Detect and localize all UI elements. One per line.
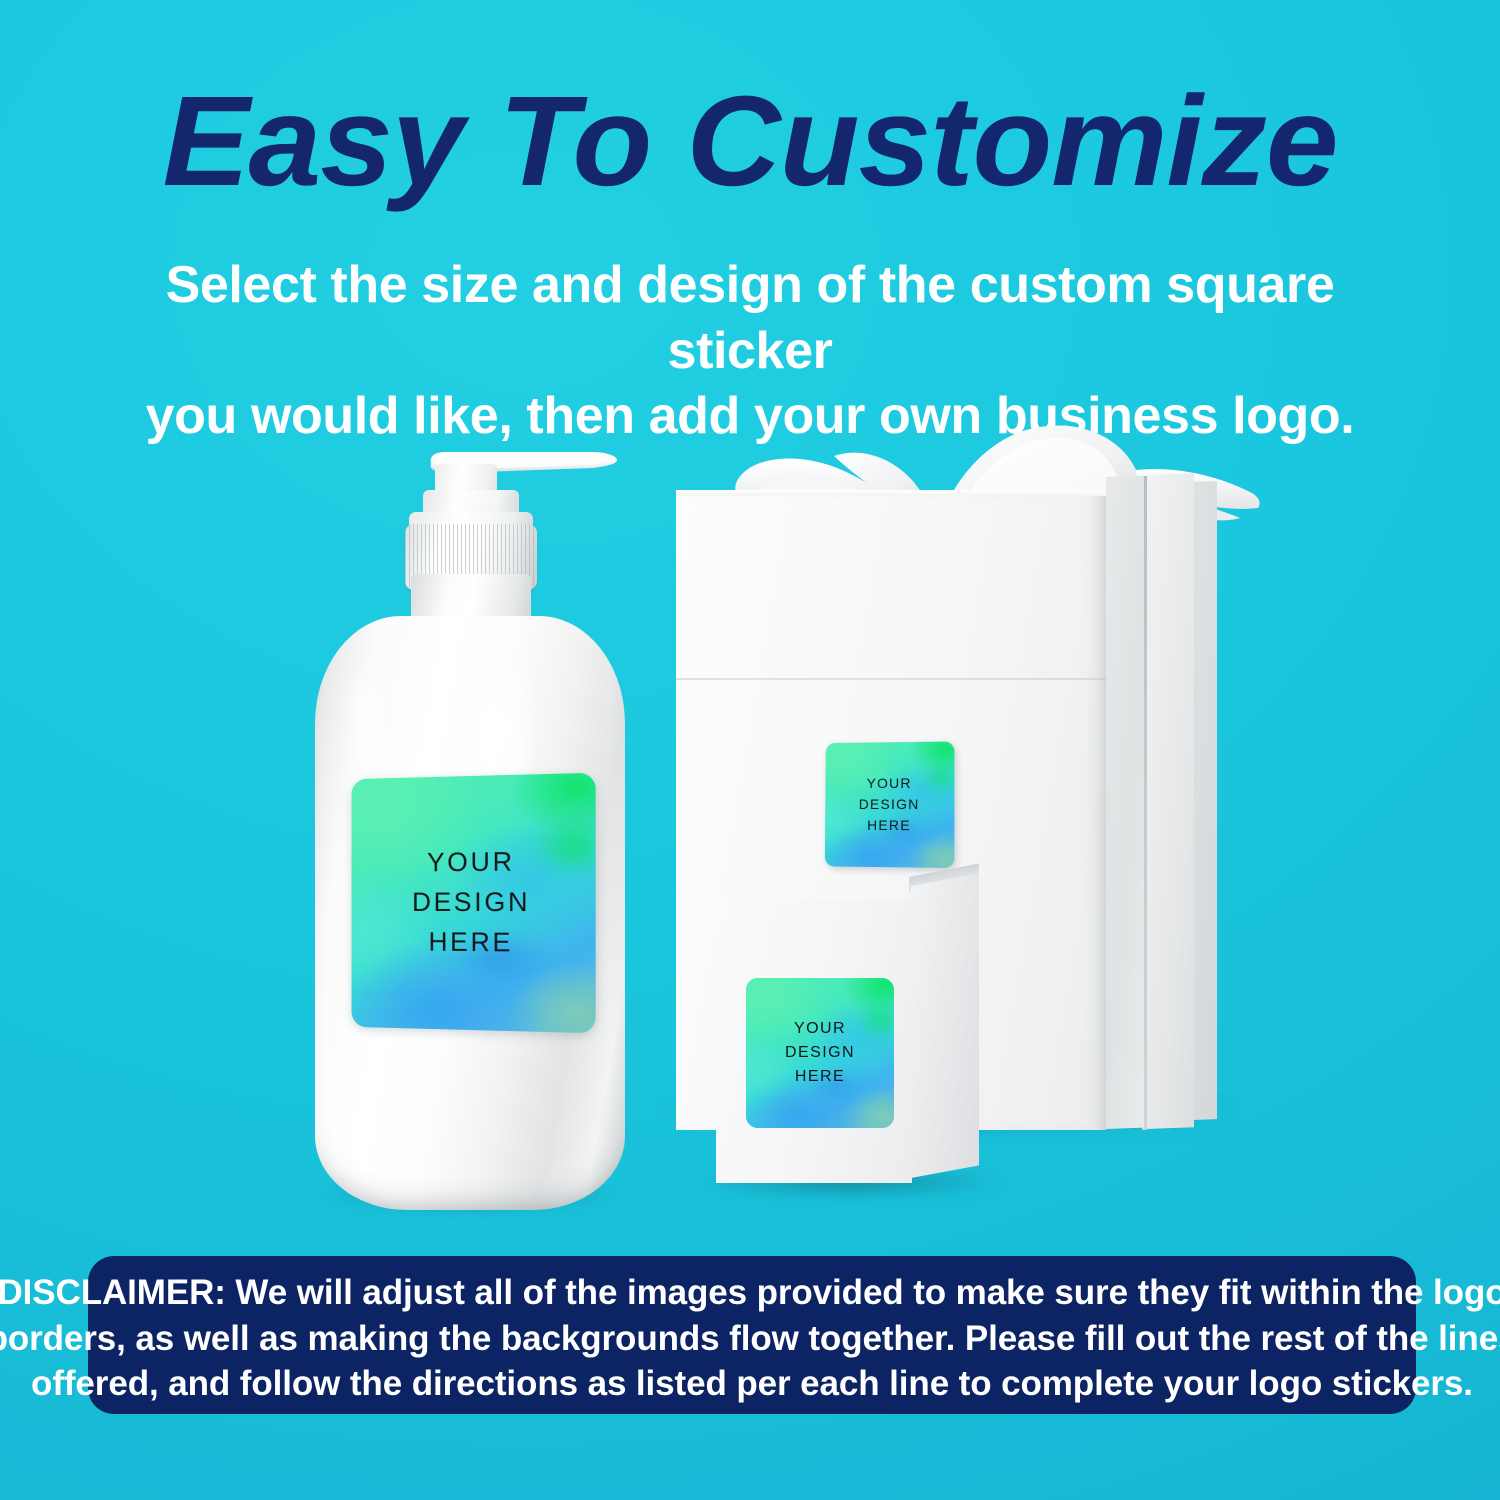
disclaimer-line-2: borders, as well as making the backgroun…	[0, 1316, 1500, 1362]
small-box-front-face: YOUR DESIGN HERE	[716, 900, 912, 1183]
sticker-on-gift-box[interactable]: YOUR DESIGN HERE	[825, 741, 955, 868]
disclaimer-line-3: offered, and follow the directions as li…	[0, 1361, 1500, 1407]
sticker-line-3: HERE	[785, 1065, 855, 1089]
small-box-side-face	[911, 873, 979, 1178]
page-title: Easy To Customize	[0, 78, 1500, 206]
sticker-text: YOUR DESIGN HERE	[785, 1017, 855, 1089]
subtitle-line-1: Select the size and design of the custom…	[110, 253, 1390, 384]
sticker-line-2: DESIGN	[785, 1041, 855, 1065]
gift-box-side-mid	[1146, 473, 1194, 1129]
sticker-line-1: YOUR	[859, 773, 920, 794]
small-product-box: YOUR DESIGN HERE	[716, 893, 986, 1188]
sticker-line-1: YOUR	[412, 842, 530, 883]
sticker-line-3: HERE	[859, 815, 920, 836]
sticker-text: YOUR DESIGN HERE	[412, 842, 530, 963]
sticker-line-2: DESIGN	[412, 883, 530, 923]
sticker-line-3: HERE	[412, 923, 530, 964]
gift-box-side-front	[1106, 476, 1144, 1129]
sticker-line-2: DESIGN	[859, 794, 920, 815]
disclaimer-text: DISCLAIMER: We will adjust all of the im…	[0, 1270, 1500, 1407]
disclaimer-line-1: DISCLAIMER: We will adjust all of the im…	[0, 1270, 1500, 1316]
promo-banner: Easy To Customize Select the size and de…	[0, 0, 1500, 1500]
sticker-on-small-box[interactable]: YOUR DESIGN HERE	[746, 978, 894, 1128]
sticker-on-bottle[interactable]: YOUR DESIGN HERE	[352, 773, 596, 1034]
sticker-line-1: YOUR	[785, 1017, 855, 1041]
sticker-text: YOUR DESIGN HERE	[859, 773, 920, 836]
gift-box-lid-line	[676, 678, 1106, 680]
pump-bottle: YOUR DESIGN HERE	[305, 448, 635, 1210]
gift-box-side-back	[1193, 481, 1217, 1120]
disclaimer-box: DISCLAIMER: We will adjust all of the im…	[88, 1256, 1416, 1414]
